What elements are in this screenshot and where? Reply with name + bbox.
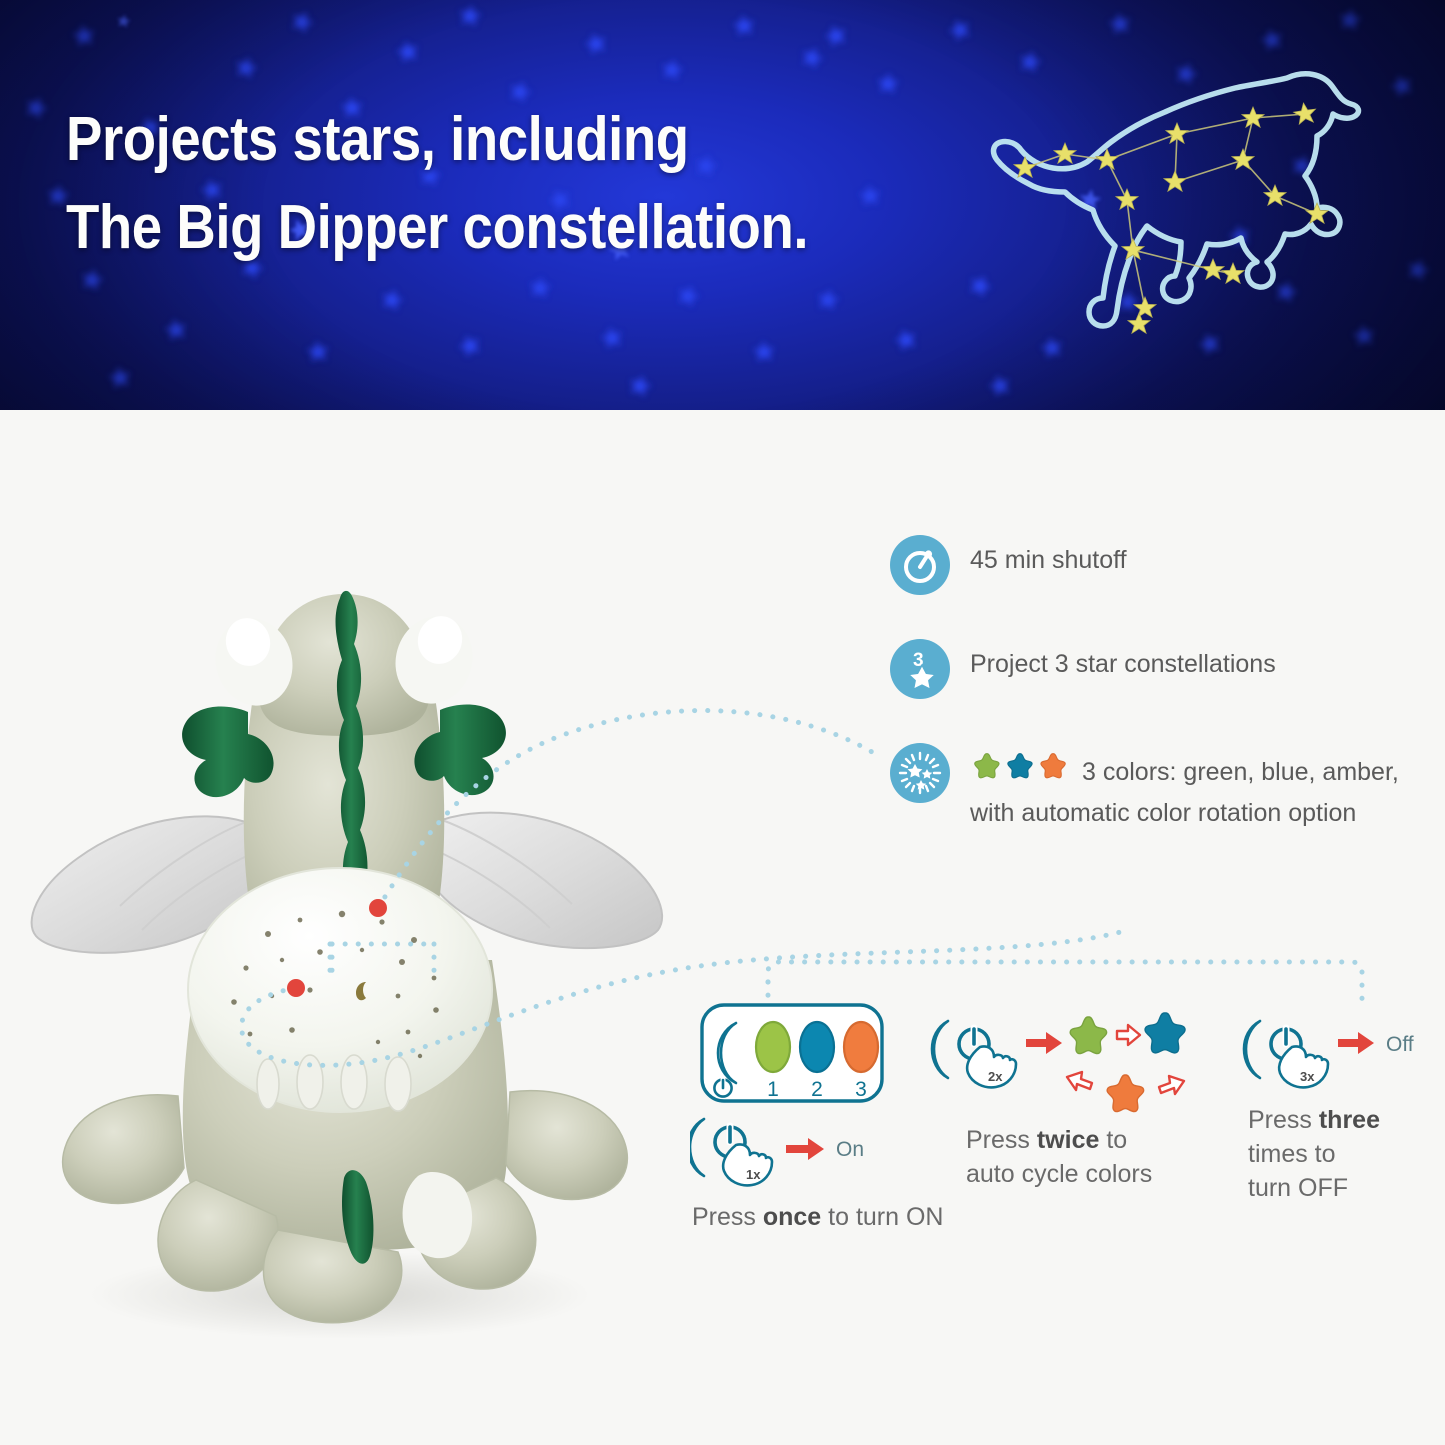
main-content: 45 min shutoff 3 Project 3 star constell… [0,410,1445,1445]
press-count-2x: 2x [988,1069,1003,1084]
result-label-on: On [836,1138,864,1161]
cycle-star-blue [1145,1013,1185,1053]
rotation-arrow-left [1067,1072,1092,1090]
sparkle-stars-icon [890,743,950,803]
svg-text:3: 3 [855,1078,867,1101]
press-three-hand-icon: 3x [1244,1021,1328,1087]
arrow-to-colors [1026,1032,1062,1054]
panel-button-2 [800,1022,834,1072]
product-photo-dragon-plush [10,490,710,1370]
result-label-off: Off [1386,1033,1414,1056]
feature-label-constellations: Project 3 star constellations [970,639,1276,683]
rotation-arrow-right [1159,1076,1184,1094]
panel-button-3 [844,1022,878,1072]
feature-list: 45 min shutoff 3 Project 3 star constell… [890,535,1420,875]
caption-press-three: Press three times to turn OFF [1248,1103,1445,1205]
arrow-to-on [786,1138,824,1160]
arrow-to-off [1338,1032,1374,1054]
feature-row-constellations: 3 Project 3 star constellations [890,639,1420,699]
header-banner: Projects stars, including The Big Dipper… [0,0,1445,410]
feature-label-colors: 3 colors: green, blue, amber, with autom… [970,743,1420,831]
press-once-hand-icon: 1x [690,1119,772,1185]
cycle-star-amber [1107,1075,1144,1112]
three-star-icon: 3 [890,639,950,699]
svg-text:1: 1 [767,1078,779,1101]
timer-icon [890,535,950,595]
banner-heading: Projects stars, including The Big Dipper… [66,96,858,272]
feature-row-shutoff: 45 min shutoff [890,535,1420,595]
color-star-swatches [970,751,1078,796]
product-infographic: Projects stars, including The Big Dipper… [0,0,1445,1445]
panel-button-1 [756,1022,790,1072]
caption-press-twice: Press twice to auto cycle colors [966,1123,1216,1191]
ursa-major-constellation-icon [987,56,1367,346]
projector-dome [188,868,492,1112]
control-panel[interactable]: 1 2 3 [702,1005,882,1101]
press-count-1x: 1x [746,1167,761,1182]
press-count-3x: 3x [1300,1069,1315,1084]
banner-heading-line-2: The Big Dipper constellation. [66,184,858,272]
cycle-star-green [1070,1017,1107,1054]
instruction-group: 1 2 3 1x On Press [690,995,1435,1245]
svg-text:2: 2 [811,1078,823,1101]
banner-heading-line-1: Projects stars, including [66,96,858,184]
rotation-arrow-top [1117,1025,1140,1045]
feature-label-shutoff: 45 min shutoff [970,535,1127,579]
press-twice-hand-icon: 2x [932,1021,1016,1087]
feature-row-colors: 3 colors: green, blue, amber, with autom… [890,743,1420,831]
